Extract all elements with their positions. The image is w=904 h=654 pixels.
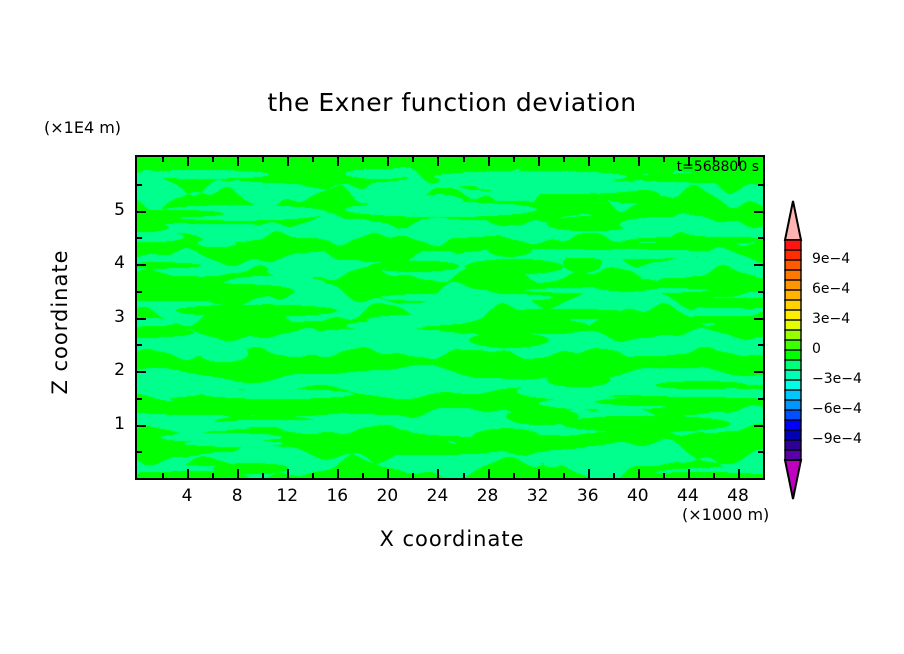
y-tick-mark: [758, 344, 763, 346]
x-tick-label: 40: [618, 486, 658, 506]
x-tick-mark: [538, 157, 540, 166]
colorbar-tick-label: 6e−4: [812, 281, 850, 297]
x-tick-mark: [463, 157, 465, 162]
colorbar-tick-label: −6e−4: [812, 401, 862, 417]
x-tick-mark: [187, 469, 189, 478]
y-tick-mark: [137, 264, 146, 266]
y-tick-mark: [754, 318, 763, 320]
x-tick-mark: [563, 473, 565, 478]
y-tick-label: 5: [95, 200, 125, 220]
x-tick-mark: [387, 157, 389, 166]
x-tick-mark: [513, 473, 515, 478]
x-tick-mark: [412, 157, 414, 162]
x-tick-mark: [613, 157, 615, 162]
x-tick-mark: [563, 157, 565, 162]
x-tick-label: 16: [317, 486, 357, 506]
x-tick-mark: [488, 157, 490, 166]
x-tick-label: 12: [267, 486, 307, 506]
contour-field-canvas: [137, 157, 763, 478]
y-tick-mark: [754, 371, 763, 373]
x-tick-mark: [362, 157, 364, 162]
x-tick-mark: [588, 469, 590, 478]
y-tick-mark: [137, 291, 142, 293]
x-tick-mark: [437, 157, 439, 166]
y-tick-mark: [754, 211, 763, 213]
x-tick-mark: [212, 473, 214, 478]
x-tick-mark: [488, 469, 490, 478]
x-tick-label: 28: [468, 486, 508, 506]
y-tick-mark: [758, 291, 763, 293]
y-tick-mark: [137, 371, 146, 373]
y-tick-label: 3: [95, 307, 125, 327]
x-tick-mark: [663, 157, 665, 162]
y-tick-mark: [137, 318, 146, 320]
colorbar-tick-label: −3e−4: [812, 371, 862, 387]
x-tick-mark: [713, 157, 715, 162]
y-tick-mark: [137, 237, 142, 239]
x-tick-mark: [287, 157, 289, 166]
x-tick-mark: [688, 469, 690, 478]
y-tick-label: 4: [95, 253, 125, 273]
x-tick-mark: [237, 157, 239, 166]
x-tick-mark: [412, 473, 414, 478]
x-tick-mark: [613, 473, 615, 478]
colorbar: [780, 200, 806, 500]
x-tick-mark: [738, 469, 740, 478]
x-tick-label: 20: [367, 486, 407, 506]
x-tick-mark: [312, 473, 314, 478]
x-tick-mark: [663, 473, 665, 478]
y-axis-unit-label: (×1E4 m): [44, 118, 121, 137]
colorbar-tick-label: 0: [812, 341, 821, 357]
x-axis-unit-label: (×1000 m): [682, 505, 769, 524]
y-tick-mark: [754, 425, 763, 427]
x-tick-mark: [588, 157, 590, 166]
x-tick-label: 48: [718, 486, 758, 506]
x-tick-mark: [638, 157, 640, 166]
x-tick-label: 44: [668, 486, 708, 506]
x-tick-label: 36: [568, 486, 608, 506]
x-tick-mark: [262, 473, 264, 478]
x-tick-mark: [237, 469, 239, 478]
y-tick-mark: [758, 237, 763, 239]
y-tick-mark: [137, 211, 146, 213]
x-tick-mark: [387, 469, 389, 478]
x-tick-mark: [162, 473, 164, 478]
contour-plot-area: t=568800 s: [135, 155, 765, 480]
x-tick-mark: [538, 469, 540, 478]
x-tick-mark: [262, 157, 264, 162]
x-tick-mark: [212, 157, 214, 162]
x-tick-mark: [638, 469, 640, 478]
colorbar-tick-label: 3e−4: [812, 311, 850, 327]
x-tick-label: 24: [417, 486, 457, 506]
x-tick-mark: [713, 473, 715, 478]
x-tick-mark: [287, 469, 289, 478]
y-tick-mark: [137, 398, 142, 400]
x-tick-mark: [312, 157, 314, 162]
y-tick-mark: [758, 398, 763, 400]
chart-title: the Exner function deviation: [0, 88, 904, 117]
x-tick-mark: [463, 473, 465, 478]
x-tick-label: 32: [518, 486, 558, 506]
x-tick-mark: [688, 157, 690, 166]
y-tick-mark: [137, 425, 146, 427]
y-tick-label: 1: [95, 414, 125, 434]
x-tick-mark: [437, 469, 439, 478]
colorbar-svg: [780, 200, 806, 500]
x-tick-mark: [337, 469, 339, 478]
x-tick-label: 8: [217, 486, 257, 506]
y-tick-mark: [754, 264, 763, 266]
x-tick-mark: [513, 157, 515, 162]
colorbar-tick-label: 9e−4: [812, 251, 850, 267]
y-tick-mark: [137, 184, 142, 186]
x-axis-label: X coordinate: [0, 527, 904, 551]
y-tick-mark: [758, 184, 763, 186]
x-tick-mark: [187, 157, 189, 166]
x-tick-mark: [362, 473, 364, 478]
x-tick-label: 4: [167, 486, 207, 506]
x-tick-mark: [162, 157, 164, 162]
y-tick-mark: [137, 451, 142, 453]
x-tick-mark: [738, 157, 740, 166]
colorbar-tick-label: −9e−4: [812, 431, 862, 447]
x-tick-mark: [337, 157, 339, 166]
y-tick-mark: [137, 344, 142, 346]
y-tick-label: 2: [95, 360, 125, 380]
y-axis-label: Z coordinate: [48, 202, 72, 442]
y-tick-mark: [758, 451, 763, 453]
